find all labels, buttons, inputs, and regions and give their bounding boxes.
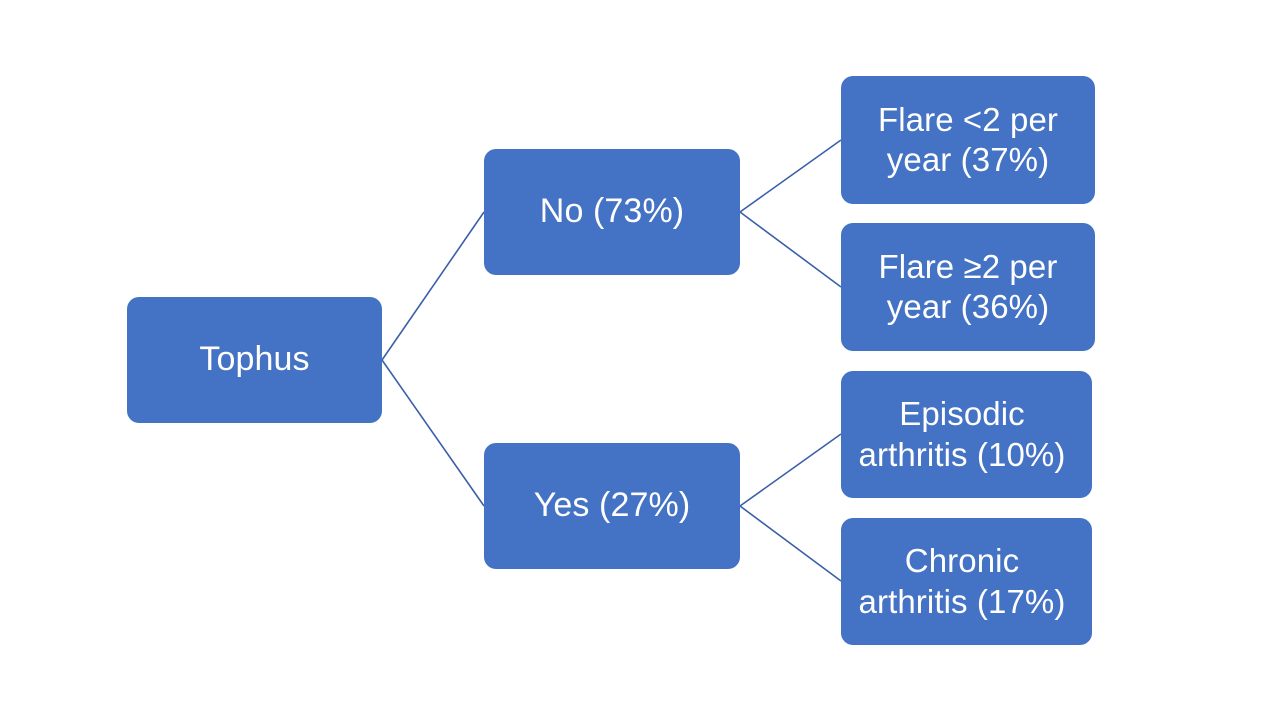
connector-root-to-no (382, 212, 484, 360)
node-episodic-arthritis-label: Episodic arthritis (10%) (832, 394, 1092, 475)
connector-root-to-yes (382, 360, 484, 506)
node-flare-greater-equal-2[interactable]: Flare ≥2 per year (36%) (841, 223, 1095, 351)
node-flare-less-than-2-label: Flare <2 per year (37%) (841, 100, 1095, 181)
connector-no-to-flare-lt2 (740, 140, 841, 212)
node-episodic-arthritis[interactable]: Episodic arthritis (10%) (841, 371, 1092, 498)
node-branch-no[interactable]: No (73%) (484, 149, 740, 275)
connector-no-to-flare-ge2 (740, 212, 841, 287)
node-flare-less-than-2[interactable]: Flare <2 per year (37%) (841, 76, 1095, 204)
connector-yes-to-episodic (740, 434, 841, 506)
node-tophus-label: Tophus (127, 339, 382, 380)
node-chronic-arthritis[interactable]: Chronic arthritis (17%) (841, 518, 1092, 645)
node-chronic-arthritis-label: Chronic arthritis (17%) (832, 541, 1092, 622)
connector-yes-to-chronic (740, 506, 841, 581)
node-branch-no-label: No (73%) (484, 191, 740, 232)
node-branch-yes-label: Yes (27%) (484, 485, 740, 526)
diagram-canvas: Tophus No (73%) Yes (27%) Flare <2 per y… (0, 0, 1280, 720)
node-branch-yes[interactable]: Yes (27%) (484, 443, 740, 569)
node-tophus[interactable]: Tophus (127, 297, 382, 423)
node-flare-greater-equal-2-label: Flare ≥2 per year (36%) (841, 247, 1095, 328)
